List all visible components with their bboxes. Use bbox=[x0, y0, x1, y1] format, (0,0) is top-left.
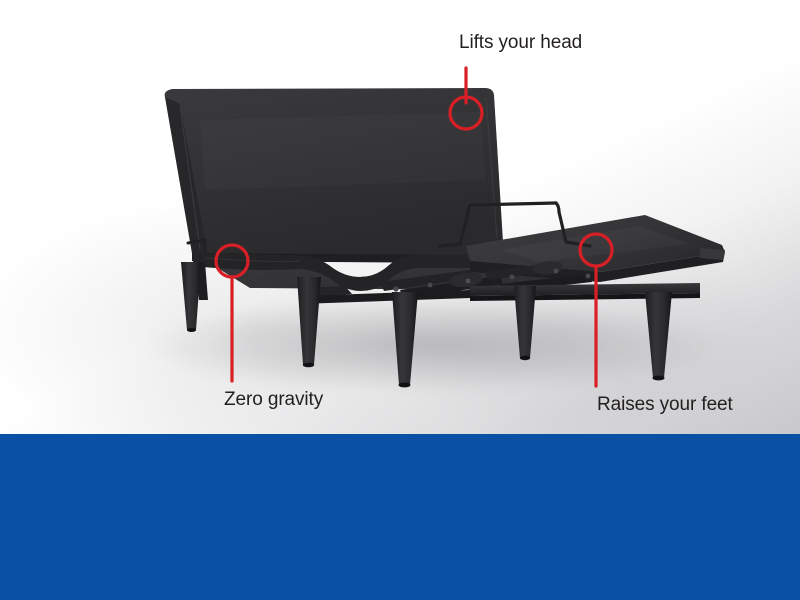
callout-label-lifts-head: Lifts your head bbox=[459, 32, 582, 54]
product-hero-area: Lifts your head Zero gravity Raises your… bbox=[0, 0, 800, 434]
callout-label-zero-gravity: Zero gravity bbox=[224, 389, 323, 411]
marketing-banner: COMPLETE YOUR SLEEP SYSTEM WITH A POWER … bbox=[0, 434, 800, 600]
head-panel bbox=[165, 88, 503, 263]
promo-banner-root: Lifts your head Zero gravity Raises your… bbox=[0, 0, 800, 600]
adjustable-bed-illustration bbox=[0, 0, 800, 434]
callout-label-raises-feet: Raises your feet bbox=[597, 394, 733, 416]
